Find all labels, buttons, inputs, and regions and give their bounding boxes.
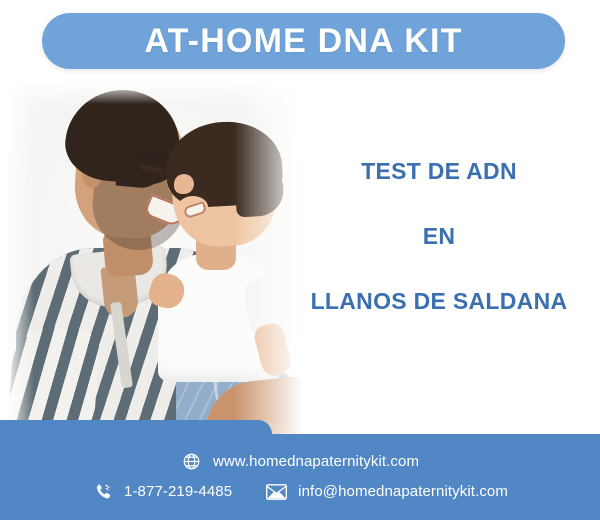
email-label: info@homednapaternitykit.com: [298, 483, 508, 500]
headline-line-2: EN: [290, 225, 588, 248]
header-banner: AT-HOME DNA KIT: [42, 13, 565, 69]
email-contact[interactable]: info@homednapaternitykit.com: [266, 481, 508, 502]
phone-icon: [92, 481, 113, 502]
footer-bar: www.homednapaternitykit.com 1-877-219-44…: [0, 434, 600, 520]
family-photo: [0, 78, 330, 478]
headline-block: TEST DE ADN EN LLANOS DE SALDANA: [290, 160, 588, 313]
child-nose: [174, 174, 194, 194]
website-label: www.homednapaternitykit.com: [213, 453, 419, 470]
footer-row-contact: 1-877-219-4485 info@homednapaternitykit.…: [0, 481, 600, 502]
globe-icon: [181, 451, 202, 472]
photo-canvas: [0, 78, 330, 478]
footer-row-website: www.homednapaternitykit.com: [0, 451, 600, 472]
page-title: AT-HOME DNA KIT: [144, 24, 462, 58]
envelope-icon: [266, 481, 287, 502]
phone-contact[interactable]: 1-877-219-4485: [92, 481, 232, 502]
photo-left-fade: [0, 78, 34, 478]
headline-line-3: LLANOS DE SALDANA: [290, 290, 588, 313]
poster-root: AT-HOME DNA KIT: [0, 0, 600, 520]
footer-notch: [0, 420, 272, 434]
headline-line-1: TEST DE ADN: [290, 160, 588, 183]
phone-label: 1-877-219-4485: [124, 483, 232, 500]
website-contact[interactable]: www.homednapaternitykit.com: [181, 451, 419, 472]
